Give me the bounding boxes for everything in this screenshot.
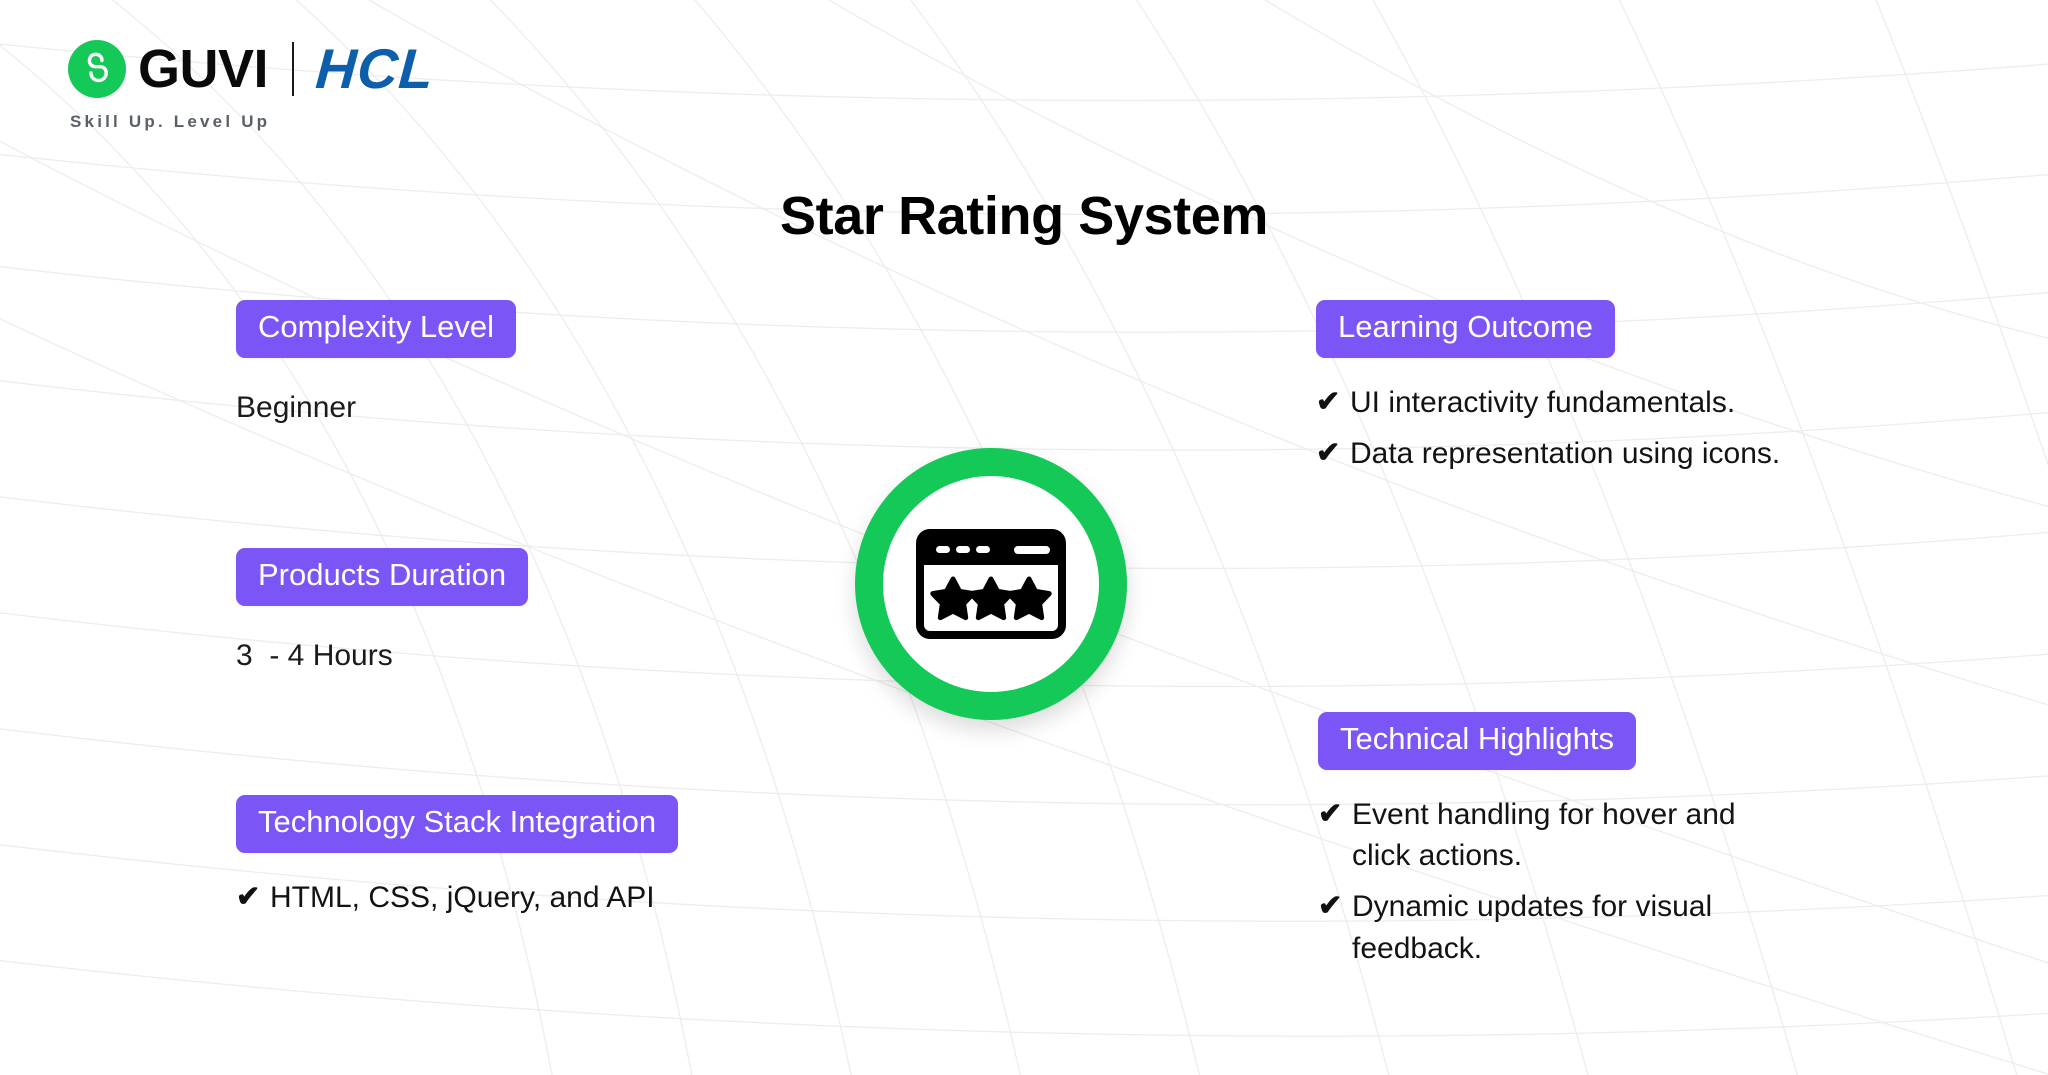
technology-stack-badge: Technology Stack Integration — [236, 795, 678, 853]
check-icon: ✔ — [236, 877, 270, 917]
brand-tagline: Skill Up. Level Up — [70, 112, 434, 132]
list-item: ✔ UI interactivity fundamentals. — [1316, 382, 1780, 423]
technology-stack-list: ✔ HTML, CSS, jQuery, and API — [236, 877, 678, 918]
products-duration-value: 3 - 4 Hours — [236, 636, 528, 675]
list-item: ✔ HTML, CSS, jQuery, and API — [236, 877, 678, 918]
check-icon: ✔ — [1318, 886, 1352, 926]
check-icon: ✔ — [1318, 794, 1352, 834]
list-item-label: Event handling for hover and click actio… — [1352, 794, 1792, 877]
check-icon: ✔ — [1316, 382, 1350, 422]
check-icon: ✔ — [1316, 433, 1350, 473]
learning-outcome-badge: Learning Outcome — [1316, 300, 1615, 358]
learning-outcome-list: ✔ UI interactivity fundamentals. ✔ Data … — [1316, 382, 1780, 475]
complexity-level-block: Complexity Level Beginner — [236, 300, 516, 427]
list-item: ✔ Dynamic updates for visual feedback. — [1318, 886, 1792, 969]
list-item-label: Data representation using icons. — [1350, 433, 1780, 474]
brand-logo-row: GUVI HCL — [68, 40, 434, 98]
list-item: ✔ Event handling for hover and click act… — [1318, 794, 1792, 877]
browser-star-rating-icon — [855, 448, 1127, 720]
page-title: Star Rating System — [0, 185, 2048, 247]
guvi-wordmark: GUVI — [138, 42, 268, 96]
hcl-wordmark: HCL — [314, 41, 436, 97]
products-duration-badge: Products Duration — [236, 548, 528, 606]
list-item-label: Dynamic updates for visual feedback. — [1352, 886, 1792, 969]
list-item-label: UI interactivity fundamentals. — [1350, 382, 1735, 423]
technical-highlights-list: ✔ Event handling for hover and click act… — [1318, 794, 1792, 970]
products-duration-block: Products Duration 3 - 4 Hours — [236, 548, 528, 675]
list-item: ✔ Data representation using icons. — [1316, 433, 1780, 474]
vertical-divider-icon — [292, 42, 294, 96]
browser-window-glyph — [916, 529, 1066, 639]
complexity-level-value: Beginner — [236, 388, 516, 427]
complexity-level-badge: Complexity Level — [236, 300, 516, 358]
slide-canvas: GUVI HCL Skill Up. Level Up Star Rating … — [0, 0, 2048, 1075]
technology-stack-block: Technology Stack Integration ✔ HTML, CSS… — [236, 795, 678, 928]
brand-logo-lockup: GUVI HCL Skill Up. Level Up — [68, 40, 434, 132]
technical-highlights-block: Technical Highlights ✔ Event handling fo… — [1318, 712, 1792, 979]
technical-highlights-badge: Technical Highlights — [1318, 712, 1636, 770]
list-item-label: HTML, CSS, jQuery, and API — [270, 877, 655, 918]
guvi-g-logo-icon — [68, 40, 126, 98]
learning-outcome-block: Learning Outcome ✔ UI interactivity fund… — [1316, 300, 1780, 484]
